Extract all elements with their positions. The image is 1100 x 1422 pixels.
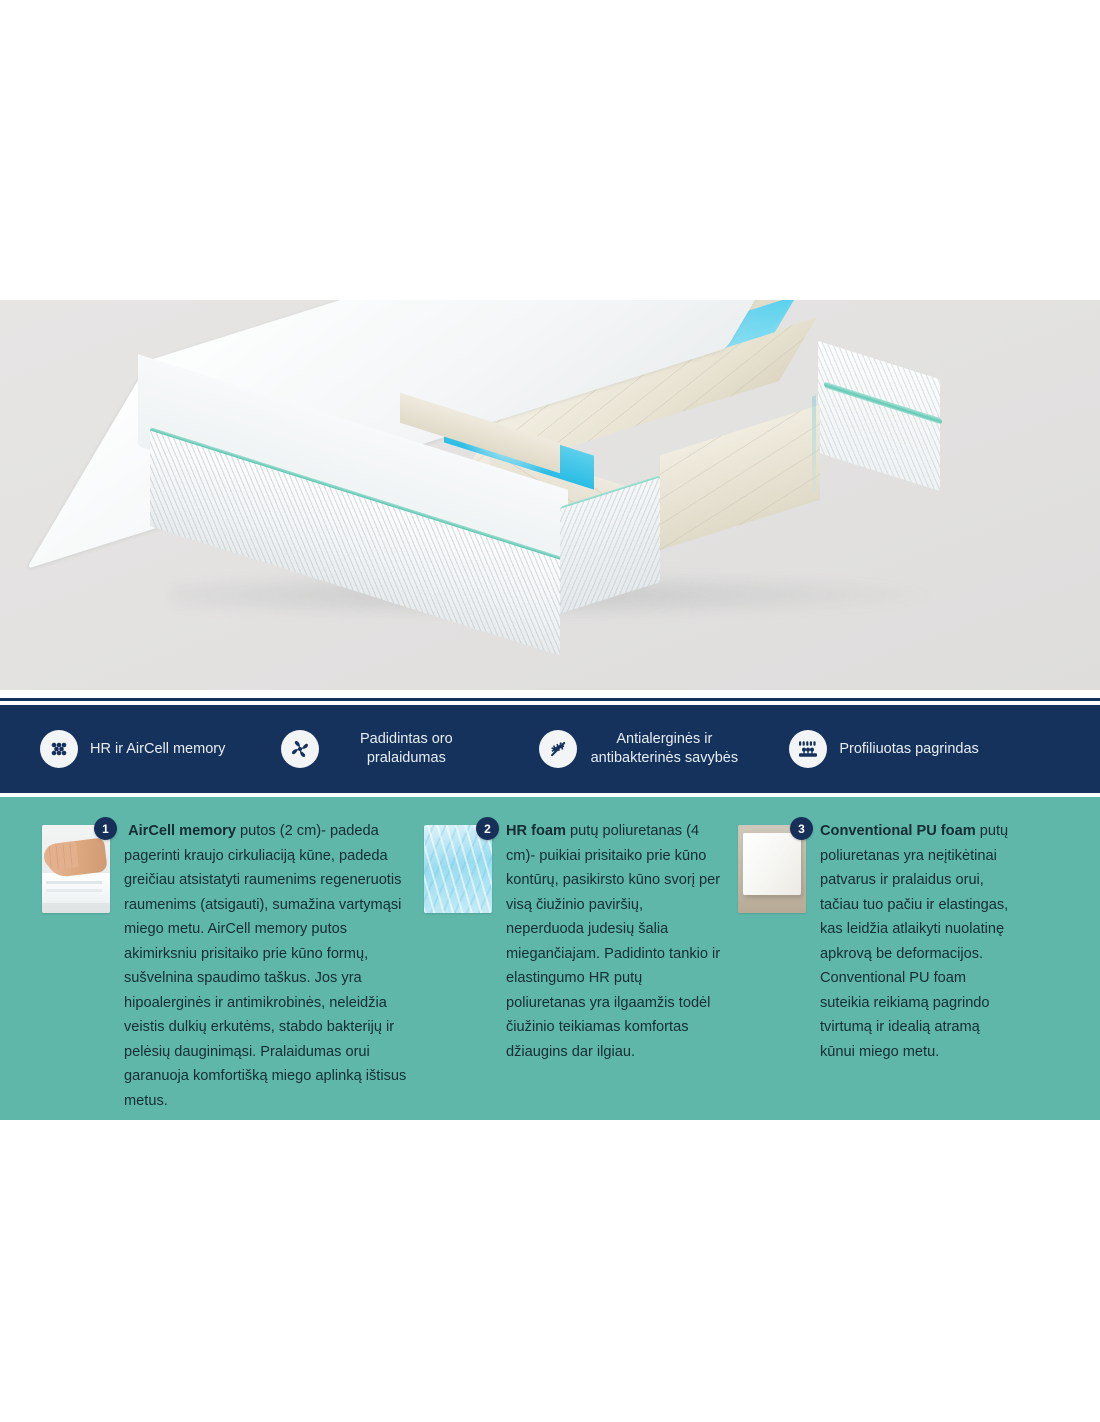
layer-title-3: Conventional PU foam xyxy=(820,823,976,839)
product-detail-page: ESSENCE SLEEP LINEA 1 2 3 HR ir AirCell … xyxy=(0,0,1100,1422)
honeycomb-cells-icon xyxy=(40,730,78,768)
layers-columns: 1 AirCell memory putos (2 cm)- padeda pa… xyxy=(0,819,1100,1113)
layer-body-3: putų poliuretanas yra neįtikėtinai patva… xyxy=(820,823,1008,1060)
layer-number-badge-3: 3 xyxy=(790,817,813,840)
layer-number-badge-1: 1 xyxy=(94,817,117,840)
page-bottom-whitespace xyxy=(0,1120,1100,1422)
mattress-illustration xyxy=(0,300,1100,690)
layer-description-3: Conventional PU foam putų poliuretanas y… xyxy=(806,819,1018,1064)
layer-number-badge-2: 2 xyxy=(476,817,499,840)
feature-item-antibacterial[interactable]: Antialerginės ir antibakterinės savybės xyxy=(535,730,743,768)
layer-title-2: HR foam xyxy=(506,823,566,839)
layer-text-wrap-2: 2 HR foam putų poliuretanas (4 cm)- puik… xyxy=(492,819,724,1064)
mattress-cut-edge xyxy=(812,395,816,494)
layer-text-wrap-3: 3 Conventional PU foam putų poliuretanas… xyxy=(806,819,1018,1064)
layer-description-1: AirCell memory putos (2 cm)- padeda page… xyxy=(110,819,412,1113)
layer-description-2: HR foam putų poliuretanas (4 cm)- puikia… xyxy=(492,819,724,1064)
feature-label: Antialerginės ir antibakterinės savybės xyxy=(589,730,739,768)
layer-column-1: 1 AirCell memory putos (2 cm)- padeda pa… xyxy=(42,819,412,1113)
fingers-shape xyxy=(43,841,80,871)
feature-label: Padidintas oro pralaidumas xyxy=(331,730,481,768)
layer3-pu-foam-end xyxy=(660,405,820,550)
layers-description-section: 1 AirCell memory putos (2 cm)- padeda pa… xyxy=(0,797,1100,1120)
layer-text-wrap-1: 1 AirCell memory putos (2 cm)- padeda pa… xyxy=(110,819,412,1113)
fan-airflow-icon xyxy=(281,730,319,768)
feature-label: Profiliuotas pagrindas xyxy=(839,740,978,759)
feature-item-airflow[interactable]: Padidintas oro pralaidumas xyxy=(277,730,485,768)
feature-item-profiled-base[interactable]: Profiliuotas pagrindas xyxy=(785,730,982,768)
layer-column-3: 3 Conventional PU foam putų poliuretanas… xyxy=(738,819,1018,1064)
foam-slab-shape xyxy=(42,873,110,903)
layer-column-2: 2 HR foam putų poliuretanas (4 cm)- puik… xyxy=(424,819,724,1064)
no-bacteria-icon xyxy=(539,730,577,768)
profiled-base-icon xyxy=(789,730,827,768)
layer-body-1: putos (2 cm)- padeda pagerinti kraujo ci… xyxy=(124,823,406,1109)
feature-bar: HR ir AirCell memory Padidintas oro pral… xyxy=(0,705,1100,793)
feature-item-hr-aircell[interactable]: HR ir AirCell memory xyxy=(36,730,229,768)
foam-block-shape xyxy=(743,833,801,895)
layer-body-2: putų poliuretanas (4 cm)- puikiai prisit… xyxy=(506,823,720,1060)
feature-label: HR ir AirCell memory xyxy=(90,740,225,759)
product-hero-image: ESSENCE SLEEP LINEA 1 2 3 xyxy=(0,300,1100,690)
layer-title-1: AirCell memory xyxy=(128,823,236,839)
